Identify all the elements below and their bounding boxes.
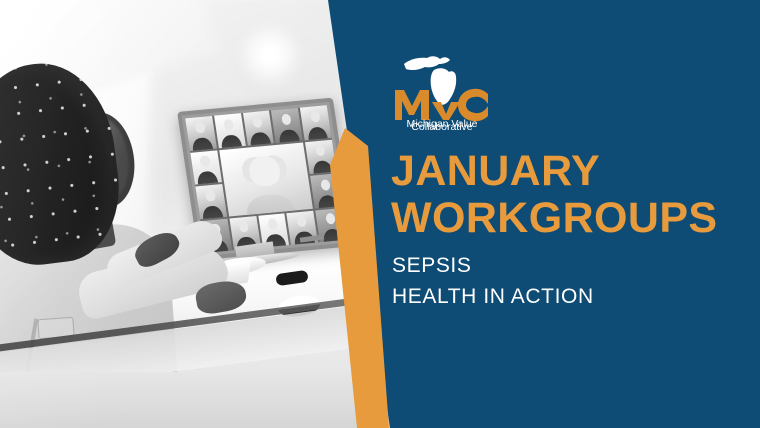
mvc-logo-wordmark: Collaborative	[390, 117, 494, 133]
mvc-logo: Michigan Value Collaborative	[390, 44, 494, 132]
logo-letter-m	[395, 90, 429, 120]
michigan-upper-peninsula-icon	[404, 56, 450, 70]
slide-subtitle: SEPSIS HEALTH IN ACTION	[392, 250, 760, 312]
subtitle-line-1: SEPSIS	[392, 250, 760, 281]
title-line-2: WORKGROUPS	[391, 195, 759, 242]
title-line-1: JANUARY	[391, 148, 759, 195]
slide-content: Michigan Value Collaborative JANUARY WOR…	[390, 0, 760, 428]
slide-canvas: Michigan Value Collaborative JANUARY WOR…	[0, 0, 760, 428]
slide-title: JANUARY WORKGROUPS	[391, 148, 759, 242]
subtitle-line-2: HEALTH IN ACTION	[392, 281, 760, 312]
logo-name-line-2: Collaborative	[411, 121, 472, 133]
michigan-lower-peninsula-icon	[431, 68, 457, 105]
